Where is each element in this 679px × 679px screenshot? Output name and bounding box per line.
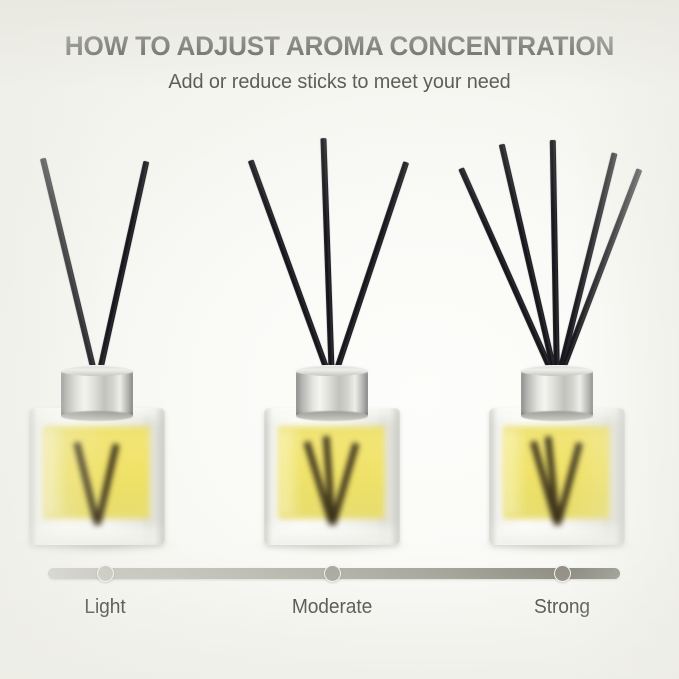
slider-label-moderate: Moderate <box>292 596 372 619</box>
slider-knob-moderate[interactable] <box>324 565 341 582</box>
slider-label-strong: Strong <box>534 596 590 619</box>
bottle-cap <box>521 370 593 416</box>
glass-edge <box>29 408 44 545</box>
reed-stick <box>40 158 100 385</box>
cap-top-ellipse <box>295 365 368 376</box>
concentration-slider[interactable] <box>48 566 620 581</box>
bottle-cap <box>296 370 368 416</box>
slider-knob-light[interactable] <box>97 565 114 582</box>
cap-top-ellipse <box>520 365 593 376</box>
glass-edge <box>264 519 400 545</box>
cap-bottom-ellipse <box>296 411 368 421</box>
reed-stick <box>499 144 560 385</box>
reed-stick <box>248 159 335 385</box>
reed-stick <box>94 161 149 385</box>
reed-stick <box>554 152 617 384</box>
cap-top-ellipse <box>60 365 133 376</box>
diffuser-bottle <box>264 408 400 545</box>
reed-stick <box>329 161 409 385</box>
slider-label-light: Light <box>84 596 125 619</box>
bottle-cap <box>61 370 133 416</box>
reed-stick <box>554 168 642 385</box>
oil-highlight <box>45 429 67 515</box>
reed-stick <box>458 167 559 385</box>
reed-stick <box>550 140 560 384</box>
oil-highlight <box>505 429 527 515</box>
slider-knob-strong[interactable] <box>554 565 571 582</box>
reed-sticks-5 <box>407 0 679 384</box>
glass-edge <box>29 519 165 545</box>
glass-edge <box>264 408 279 545</box>
glass-edge <box>146 408 165 545</box>
glass-edge <box>489 519 625 545</box>
glass-edge <box>381 408 400 545</box>
diffuser-bottle <box>29 408 165 545</box>
oil-highlight <box>280 429 302 515</box>
cap-bottom-ellipse <box>61 411 133 421</box>
reed-stick <box>320 138 335 384</box>
glass-edge <box>606 408 625 545</box>
infographic-canvas: HOW TO ADJUST AROMA CONCENTRATION Add or… <box>0 0 679 679</box>
cap-bottom-ellipse <box>521 411 593 421</box>
diffuser-bottle <box>489 408 625 545</box>
glass-edge <box>489 408 504 545</box>
